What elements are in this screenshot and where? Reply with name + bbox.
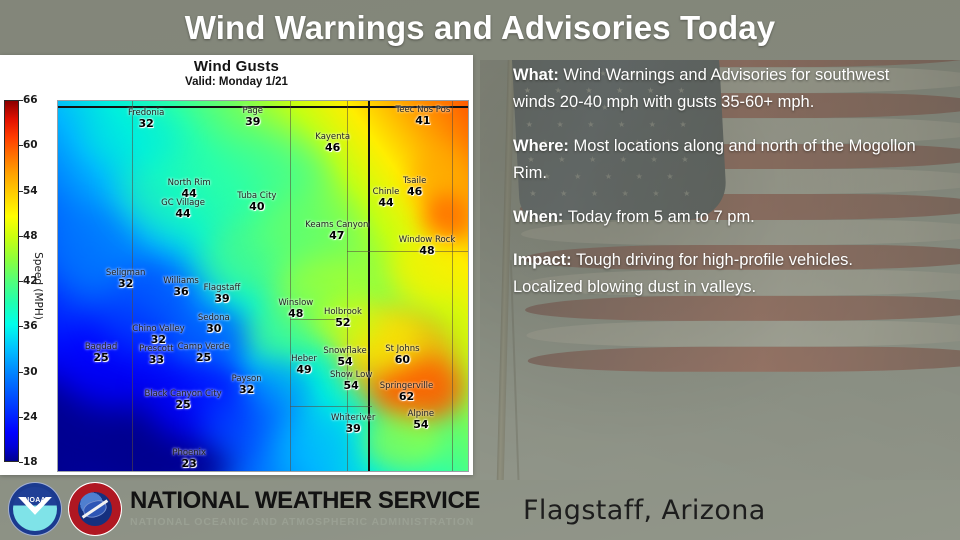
advisory-paragraph: What: Wind Warnings and Advisories for s… xyxy=(513,62,925,116)
county-line-2 xyxy=(290,101,291,471)
agency-name: NATIONAL WEATHER SERVICE xyxy=(130,487,480,515)
wind-field-contour xyxy=(177,308,251,367)
advisory-label: What: xyxy=(513,66,559,84)
advisory-paragraph: Impact: Tough driving for high-profile v… xyxy=(513,247,925,301)
advisory-label: When: xyxy=(513,208,563,226)
wind-field-contour xyxy=(361,412,443,471)
county-line-5 xyxy=(347,251,468,252)
state-border-east xyxy=(368,101,370,471)
colorbar-tick-label: 24 xyxy=(23,411,38,423)
colorbar-tick-mark xyxy=(19,145,23,146)
colorbar-gradient xyxy=(4,100,19,462)
county-line-3 xyxy=(347,101,348,471)
colorbar-tick-mark xyxy=(19,281,23,282)
advisory-text: Wind Warnings and Advisories for southwe… xyxy=(513,66,889,111)
advisory-text: Most locations along and north of the Mo… xyxy=(513,137,916,182)
wind-speed-field xyxy=(58,101,468,471)
wind-gust-contour-map: Fredonia32Page39Teec Nos Pos41Kayenta46N… xyxy=(57,100,469,472)
colorbar-tick-label: 60 xyxy=(23,139,38,151)
colorbar-tick-label: 54 xyxy=(23,185,38,197)
colorbar-tick-label: 66 xyxy=(23,94,38,106)
map-header: Wind Gusts Valid: Monday 1/21 xyxy=(0,55,473,95)
noaa-seal-icon: NOAA xyxy=(8,482,62,536)
advisory-paragraph: Where: Most locations along and north of… xyxy=(513,133,925,187)
colorbar-axis-title: Speed (MPH) xyxy=(32,252,44,320)
agency-parent-name: NATIONAL OCEANIC AND ATMOSPHERIC ADMINIS… xyxy=(130,516,480,528)
colorbar-tick-label: 18 xyxy=(23,456,38,468)
location-label: Flagstaff, Arizona xyxy=(523,495,766,526)
nws-wordmark: NATIONAL WEATHER SERVICE NATIONAL OCEANI… xyxy=(130,487,480,528)
colorbar-tick-label: 48 xyxy=(23,230,38,242)
state-border-north xyxy=(58,106,468,108)
colorbar-tick-mark xyxy=(19,100,23,101)
colorbar-legend: 666054484236302418 Speed (MPH) xyxy=(0,100,56,472)
map-valid-time: Valid: Monday 1/21 xyxy=(0,76,473,88)
page-title: Wind Warnings and Advisories Today xyxy=(0,6,960,50)
county-line-6 xyxy=(290,319,347,320)
colorbar-tick-mark xyxy=(19,417,23,418)
colorbar-tick-label: 36 xyxy=(23,320,38,332)
advisory-label: Impact: xyxy=(513,251,572,269)
noaa-seal-text: NOAA xyxy=(24,497,46,504)
county-line-4 xyxy=(452,101,453,471)
county-line-1 xyxy=(132,101,133,471)
advisory-text: Today from 5 am to 7 pm. xyxy=(563,208,754,226)
colorbar-tick-mark xyxy=(19,326,23,327)
colorbar-tick-mark xyxy=(19,372,23,373)
footer: NOAA NATIONAL WEATHER SERVICE NATIONAL O… xyxy=(0,476,960,540)
colorbar-tick-mark xyxy=(19,236,23,237)
colorbar-tick-mark xyxy=(19,191,23,192)
advisory-label: Where: xyxy=(513,137,569,155)
wind-field-contour xyxy=(247,360,313,419)
advisory-details: What: Wind Warnings and Advisories for s… xyxy=(513,62,925,301)
agency-logos: NOAA xyxy=(8,482,122,536)
colorbar-tick-mark xyxy=(19,462,23,463)
county-line-7 xyxy=(290,406,372,407)
colorbar-tick-label: 30 xyxy=(23,366,38,378)
nws-seal-icon xyxy=(68,482,122,536)
wind-field-contour xyxy=(390,238,464,305)
wind-gust-map-panel: Wind Gusts Valid: Monday 1/21 6660544842… xyxy=(0,55,473,475)
advisory-paragraph: When: Today from 5 am to 7 pm. xyxy=(513,204,925,231)
map-title: Wind Gusts xyxy=(0,58,473,75)
